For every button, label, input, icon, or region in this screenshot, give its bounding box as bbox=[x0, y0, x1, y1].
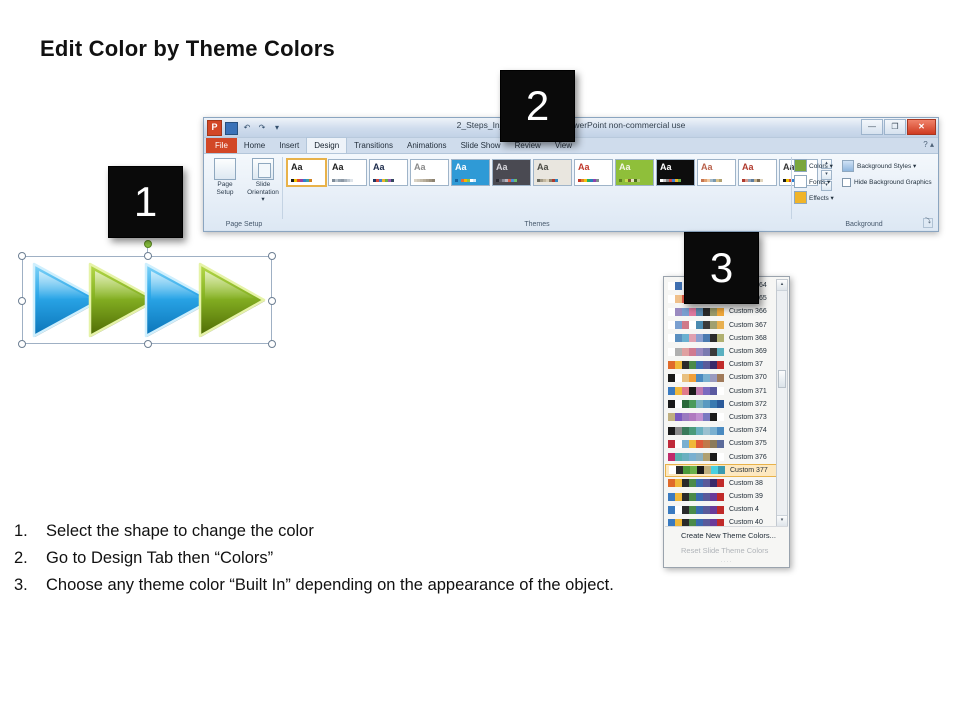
dropdown-resize-grip[interactable]: ···· bbox=[665, 559, 788, 565]
theme-color-row[interactable]: Custom 37 bbox=[665, 358, 778, 371]
theme-thumbnail-aa: Aa bbox=[742, 163, 754, 172]
theme-color-name: Custom 372 bbox=[729, 401, 767, 408]
resize-handle-n[interactable] bbox=[144, 252, 152, 260]
arrows-svg bbox=[30, 260, 266, 340]
theme-color-swatches bbox=[668, 506, 724, 514]
resize-handle-e[interactable] bbox=[268, 297, 276, 305]
restore-button[interactable]: ❐ bbox=[884, 119, 906, 135]
theme-color-swatches bbox=[668, 453, 724, 461]
help-icon[interactable]: ? bbox=[923, 140, 927, 149]
minimize-button[interactable]: — bbox=[861, 119, 883, 135]
page-setup-icon bbox=[214, 158, 236, 180]
theme-thumbnail-9[interactable]: Aa bbox=[615, 159, 654, 186]
theme-thumbnail-aa: Aa bbox=[373, 163, 385, 172]
theme-thumbnail-aa: Aa bbox=[496, 163, 508, 172]
resize-handle-sw[interactable] bbox=[18, 340, 26, 348]
reset-slide-theme-colors: Reset Slide Theme Colors bbox=[665, 542, 788, 557]
theme-color-name: Custom 367 bbox=[729, 322, 767, 329]
ribbon-group-background: Colors ▾Fonts ▾Effects ▾ Background Styl… bbox=[792, 155, 936, 229]
theme-thumbnail-swatches bbox=[414, 179, 435, 182]
close-button[interactable]: ✕ bbox=[907, 119, 936, 135]
theme-thumbnail-8[interactable]: Aa bbox=[574, 159, 613, 186]
theme-thumbnail-aa: Aa bbox=[291, 163, 303, 172]
theme-thumbnail-5[interactable]: Aa bbox=[451, 159, 490, 186]
theme-thumbnail-swatches bbox=[455, 179, 476, 182]
theme-color-row[interactable]: Custom 372 bbox=[665, 398, 778, 411]
ribbon-help-icons[interactable]: ? ▴ bbox=[923, 140, 934, 149]
theme-thumbnail-aa: Aa bbox=[414, 163, 426, 172]
arrow-chevron-group[interactable] bbox=[22, 256, 272, 344]
theme-color-row[interactable]: Custom 370 bbox=[665, 371, 778, 384]
theme-thumbnail-swatches bbox=[332, 179, 353, 182]
theme-color-swatches bbox=[668, 334, 724, 342]
tab-transitions[interactable]: Transitions bbox=[347, 138, 400, 153]
resize-handle-nw[interactable] bbox=[18, 252, 26, 260]
effects-button-label: Effects ▾ bbox=[809, 194, 834, 202]
theme-thumbnail-4[interactable]: Aa bbox=[410, 159, 449, 186]
theme-color-swatches bbox=[668, 387, 724, 395]
ribbon-body: Page Setup Slide Orientation ▾ Page Setu… bbox=[204, 154, 938, 230]
colors-button-label: Colors ▾ bbox=[809, 162, 833, 170]
theme-color-swatches bbox=[668, 308, 724, 316]
theme-color-row[interactable]: Custom 367 bbox=[665, 319, 778, 332]
hide-background-graphics-checkbox-box[interactable] bbox=[842, 178, 851, 187]
theme-color-row[interactable]: Custom 368 bbox=[665, 332, 778, 345]
minimize-ribbon-icon[interactable]: ▴ bbox=[930, 140, 934, 149]
theme-thumbnail-11[interactable]: Aa bbox=[697, 159, 736, 186]
group-label-background: Background bbox=[792, 220, 936, 229]
page-setup-label-1: Page bbox=[207, 181, 243, 189]
theme-color-swatches bbox=[668, 493, 724, 501]
badge-1: 1 bbox=[108, 166, 183, 238]
background-styles-button[interactable]: Background Styles ▾ bbox=[842, 160, 934, 172]
theme-color-row[interactable]: Custom 38 bbox=[665, 477, 778, 490]
colors-icon bbox=[794, 159, 807, 172]
badge-2: 2 bbox=[500, 70, 575, 142]
theme-thumbnail-10[interactable]: Aa bbox=[656, 159, 695, 186]
group-label-themes: Themes bbox=[283, 220, 791, 229]
theme-color-name: Custom 370 bbox=[729, 374, 767, 381]
theme-thumbnail-aa: Aa bbox=[455, 163, 467, 172]
rotation-handle[interactable] bbox=[144, 240, 152, 248]
theme-color-row[interactable]: Custom 39 bbox=[665, 490, 778, 503]
slide-orientation-label-1: Slide bbox=[245, 181, 281, 189]
theme-color-swatches bbox=[668, 348, 724, 356]
theme-color-swatches bbox=[668, 400, 724, 408]
theme-thumbnail-12[interactable]: Aa bbox=[738, 159, 777, 186]
group-label-page-setup: Page Setup bbox=[206, 220, 282, 229]
page-title: Edit Color by Theme Colors bbox=[40, 36, 335, 62]
theme-thumbnail-swatches bbox=[373, 179, 394, 182]
create-new-theme-colors[interactable]: Create New Theme Colors... bbox=[665, 527, 788, 542]
theme-color-name: Custom 369 bbox=[729, 348, 767, 355]
theme-thumbnail-swatches bbox=[291, 179, 312, 182]
resize-handle-w[interactable] bbox=[18, 297, 26, 305]
theme-thumbnail-aa: Aa bbox=[701, 163, 713, 172]
theme-thumbnail-swatches bbox=[578, 179, 599, 182]
effects-button[interactable]: Effects ▾ bbox=[794, 191, 838, 204]
theme-thumbnail-swatches bbox=[701, 179, 722, 182]
tab-insert[interactable]: Insert bbox=[272, 138, 306, 153]
theme-color-swatches bbox=[668, 361, 724, 369]
theme-color-name: Custom 38 bbox=[729, 480, 763, 487]
theme-thumbnail-swatches bbox=[660, 179, 681, 182]
instruction-text: Choose any theme color “Built In” depend… bbox=[46, 572, 844, 599]
theme-thumbnail-aa: Aa bbox=[660, 163, 672, 172]
theme-color-name: Custom 366 bbox=[729, 308, 767, 315]
page-setup-button[interactable]: Page Setup bbox=[207, 158, 243, 204]
theme-thumbnail-aa: Aa bbox=[619, 163, 631, 172]
theme-color-name: Custom 377 bbox=[730, 467, 768, 474]
background-styles-button-label: Background Styles ▾ bbox=[857, 162, 916, 170]
slide-orientation-label-2: Orientation ▾ bbox=[245, 189, 281, 204]
resize-handle-s[interactable] bbox=[144, 340, 152, 348]
hide-background-graphics-checkbox[interactable]: Hide Background Graphics bbox=[842, 178, 934, 187]
tab-animations[interactable]: Animations bbox=[400, 138, 454, 153]
theme-color-name: Custom 373 bbox=[729, 414, 767, 421]
theme-thumbnail-7[interactable]: Aa bbox=[533, 159, 572, 186]
badge-3: 3 bbox=[684, 232, 759, 304]
tab-file[interactable]: File bbox=[206, 138, 237, 153]
resize-handle-ne[interactable] bbox=[268, 252, 276, 260]
window-controls[interactable]: — ❐ ✕ bbox=[861, 119, 936, 135]
ribbon-group-page-setup: Page Setup Slide Orientation ▾ Page Setu… bbox=[206, 155, 282, 229]
theme-color-swatches bbox=[668, 413, 724, 421]
theme-thumbnail-3[interactable]: Aa bbox=[369, 159, 408, 186]
theme-thumbnail-swatches bbox=[742, 179, 763, 182]
colors-button[interactable]: Colors ▾ bbox=[794, 159, 838, 172]
theme-color-swatches bbox=[668, 374, 724, 382]
scrollbar-thumb[interactable] bbox=[778, 370, 786, 388]
theme-color-name: Custom 376 bbox=[729, 454, 767, 461]
theme-color-row[interactable]: Custom 4 bbox=[665, 503, 778, 516]
theme-color-name: Custom 368 bbox=[729, 335, 767, 342]
theme-thumbnail-swatches bbox=[619, 179, 640, 182]
theme-color-row[interactable]: Custom 369 bbox=[665, 345, 778, 358]
theme-color-name: Custom 4 bbox=[729, 506, 759, 513]
hide-background-graphics-checkbox-label: Hide Background Graphics bbox=[854, 179, 932, 186]
slide-orientation-icon bbox=[252, 158, 274, 180]
theme-color-swatches bbox=[668, 479, 724, 487]
theme-color-swatches bbox=[668, 427, 724, 435]
ribbon-group-themes: AaAaAaAaAaAaAaAaAaAaAaAaAa▴▾▾ Themes bbox=[283, 155, 791, 229]
dropdown-scrollbar[interactable]: ▴ ▾ bbox=[776, 279, 788, 527]
scroll-up-button[interactable]: ▴ bbox=[777, 280, 787, 291]
theme-color-name: Custom 37 bbox=[729, 361, 763, 368]
fonts-button-label: Fonts ▾ bbox=[809, 178, 830, 186]
background-dialog-launcher[interactable]: ⤵ bbox=[923, 218, 933, 228]
theme-color-name: Custom 371 bbox=[729, 388, 767, 395]
theme-color-row[interactable]: Custom 371 bbox=[665, 385, 778, 398]
theme-color-swatches bbox=[668, 440, 724, 448]
theme-color-swatches bbox=[668, 321, 724, 329]
theme-colors-dropdown[interactable]: Custom 364Custom 365Custom 366Custom 367… bbox=[663, 276, 790, 568]
fonts-icon bbox=[794, 175, 807, 188]
instruction-item: 3.Choose any theme color “Built In” depe… bbox=[14, 572, 844, 599]
theme-color-row[interactable]: Custom 373 bbox=[665, 411, 778, 424]
effects-icon bbox=[794, 191, 807, 204]
theme-thumbnail-6[interactable]: Aa bbox=[492, 159, 531, 186]
instruction-number: 1. bbox=[14, 518, 46, 545]
slide-orientation-button[interactable]: Slide Orientation ▾ bbox=[245, 158, 281, 204]
resize-handle-se[interactable] bbox=[268, 340, 276, 348]
theme-thumbnail-aa: Aa bbox=[537, 163, 549, 172]
theme-color-name: Custom 374 bbox=[729, 427, 767, 434]
theme-color-row[interactable]: Custom 375 bbox=[665, 437, 778, 450]
dropdown-footer: Create New Theme Colors... Reset Slide T… bbox=[665, 526, 788, 566]
theme-color-row[interactable]: Custom 366 bbox=[665, 305, 778, 318]
tab-design[interactable]: Design bbox=[306, 137, 347, 153]
theme-thumbnail-swatches bbox=[537, 179, 558, 182]
theme-color-swatches bbox=[669, 466, 725, 474]
theme-color-row[interactable]: Custom 376 bbox=[665, 450, 778, 463]
slide-canvas: Edit Color by Theme Colors P ↶ ↷ ▾ 2_Ste… bbox=[0, 0, 960, 720]
theme-thumbnail-aa: Aa bbox=[332, 163, 344, 172]
theme-thumbnail-aa: Aa bbox=[578, 163, 590, 172]
instruction-number: 2. bbox=[14, 545, 46, 572]
theme-color-row[interactable]: Custom 377 bbox=[665, 464, 778, 477]
theme-color-name: Custom 39 bbox=[729, 493, 763, 500]
background-styles-icon[interactable] bbox=[842, 160, 854, 172]
tab-home[interactable]: Home bbox=[237, 138, 272, 153]
page-setup-label-2: Setup bbox=[207, 189, 243, 197]
fonts-button[interactable]: Fonts ▾ bbox=[794, 175, 838, 188]
theme-thumbnail-swatches bbox=[496, 179, 517, 182]
theme-color-row[interactable]: Custom 374 bbox=[665, 424, 778, 437]
theme-color-name: Custom 375 bbox=[729, 440, 767, 447]
scroll-down-button[interactable]: ▾ bbox=[777, 515, 787, 526]
theme-thumbnail-2[interactable]: Aa bbox=[328, 159, 367, 186]
theme-thumbnail-1[interactable]: Aa bbox=[287, 159, 326, 186]
instruction-number: 3. bbox=[14, 572, 46, 599]
